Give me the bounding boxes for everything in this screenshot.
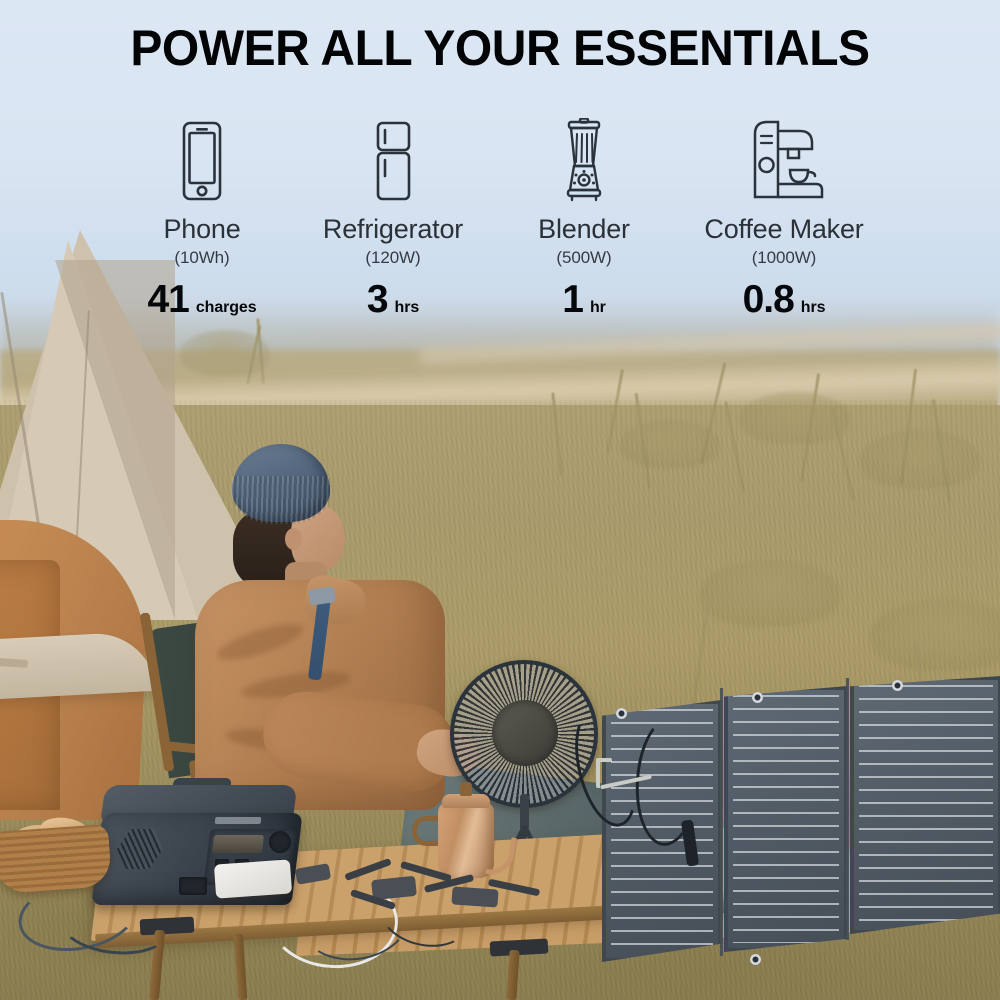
appliance-card-refrigerator: Refrigerator (120W) 3 hrs — [295, 106, 491, 320]
appliance-name: Blender — [491, 214, 677, 245]
runtime-value: 0.8 — [743, 280, 794, 320]
runtime-value: 41 — [147, 280, 188, 320]
phone-icon — [109, 106, 295, 202]
appliance-power-rating: (10Wh) — [109, 247, 295, 268]
appliance-power-rating: (120W) — [295, 247, 491, 268]
infographic-overlay: POWER ALL YOUR ESSENTIALS Phone (10Wh) 4… — [0, 0, 1000, 1000]
appliance-name: Phone — [109, 214, 295, 245]
appliance-power-rating: (1000W) — [677, 247, 891, 268]
appliance-runtime: 41 charges — [109, 280, 295, 320]
blender-icon — [491, 106, 677, 202]
appliance-name: Refrigerator — [295, 214, 491, 245]
runtime-unit: hrs — [801, 299, 826, 317]
appliance-card-phone: Phone (10Wh) 41 charges — [109, 106, 295, 320]
appliance-runtime: 3 hrs — [295, 280, 491, 320]
appliance-card-blender: Blender (500W) 1 hr — [491, 106, 677, 320]
runtime-unit: hr — [590, 299, 606, 317]
refrigerator-icon — [295, 106, 491, 202]
runtime-value: 3 — [367, 280, 388, 320]
runtime-unit: hrs — [395, 299, 420, 317]
appliance-power-rating: (500W) — [491, 247, 677, 268]
appliance-runtime: 1 hr — [491, 280, 677, 320]
appliance-card-coffee-maker: Coffee Maker (1000W) 0.8 hrs — [677, 106, 891, 320]
appliance-name: Coffee Maker — [677, 214, 891, 245]
runtime-value: 1 — [562, 280, 583, 320]
appliance-runtime-row: Phone (10Wh) 41 charges Refrigerator (12… — [0, 106, 1000, 320]
runtime-unit: charges — [196, 299, 257, 317]
page-title: POWER ALL YOUR ESSENTIALS — [20, 20, 980, 76]
appliance-runtime: 0.8 hrs — [677, 280, 891, 320]
coffee-maker-icon — [677, 106, 891, 202]
